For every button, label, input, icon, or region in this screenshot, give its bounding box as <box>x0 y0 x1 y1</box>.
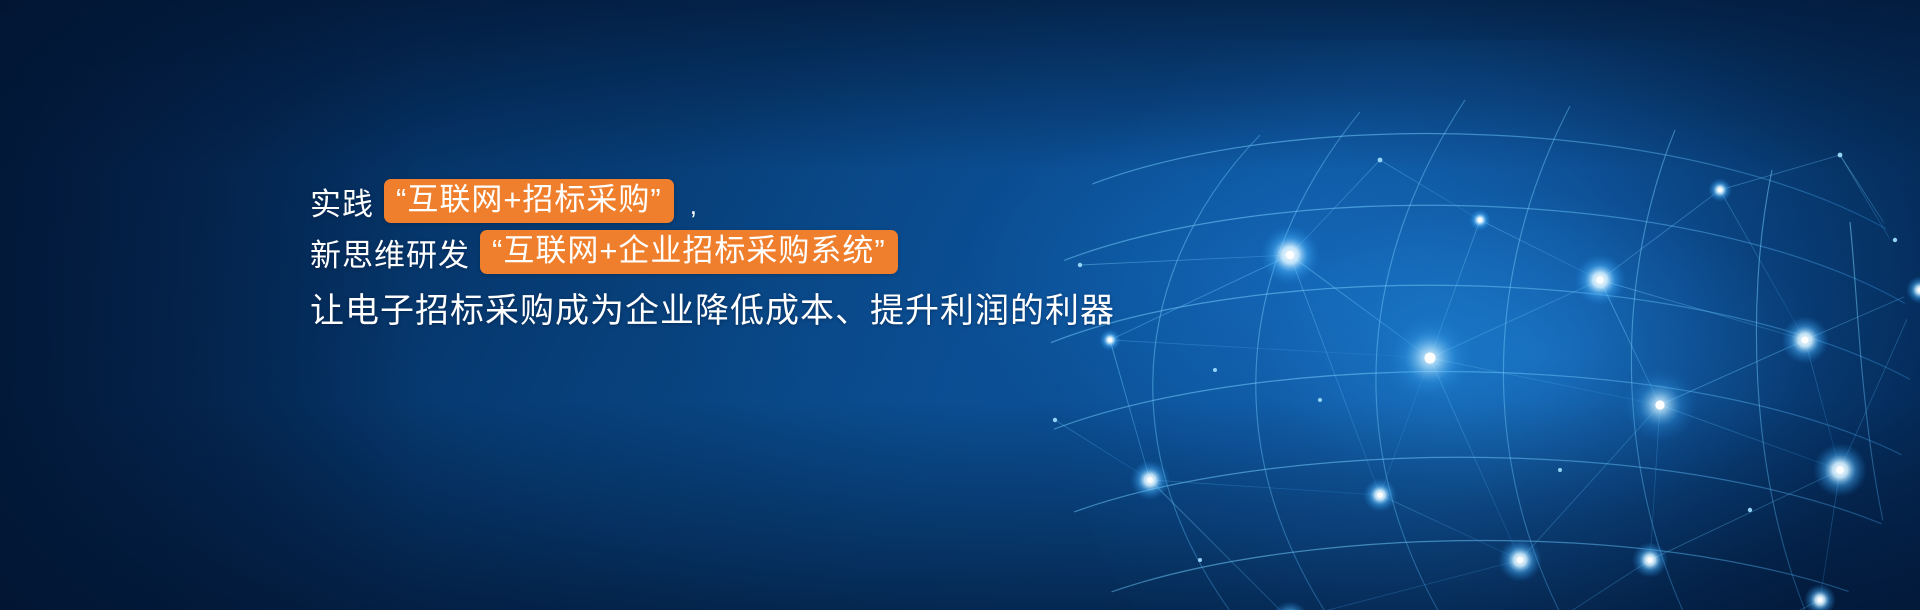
headline-line-3: 让电子招标采购成为企业降低成本、提升利润的利器 <box>310 282 1310 332</box>
headline-line1-highlight: “互联网+招标采购” <box>384 179 674 224</box>
headline-line2-lead: 新思维研发 <box>310 230 470 275</box>
headline-line1-lead: 实践 <box>310 179 374 224</box>
headline-line1-tail: , <box>690 190 698 221</box>
headline-line-2: 新思维研发 “互联网+企业招标采购系统” <box>310 228 1310 276</box>
headline-line-1: 实践 “互联网+招标采购” , <box>310 178 1310 224</box>
headline-line3-text: 让电子招标采购成为企业降低成本、提升利润的利器 <box>310 283 1115 332</box>
hero-banner: 实践 “互联网+招标采购” , 新思维研发 “互联网+企业招标采购系统” 让电子… <box>0 0 1920 610</box>
headline-line2-highlight: “互联网+企业招标采购系统” <box>480 230 898 275</box>
hero-headline-block: 实践 “互联网+招标采购” , 新思维研发 “互联网+企业招标采购系统” 让电子… <box>310 178 1310 332</box>
